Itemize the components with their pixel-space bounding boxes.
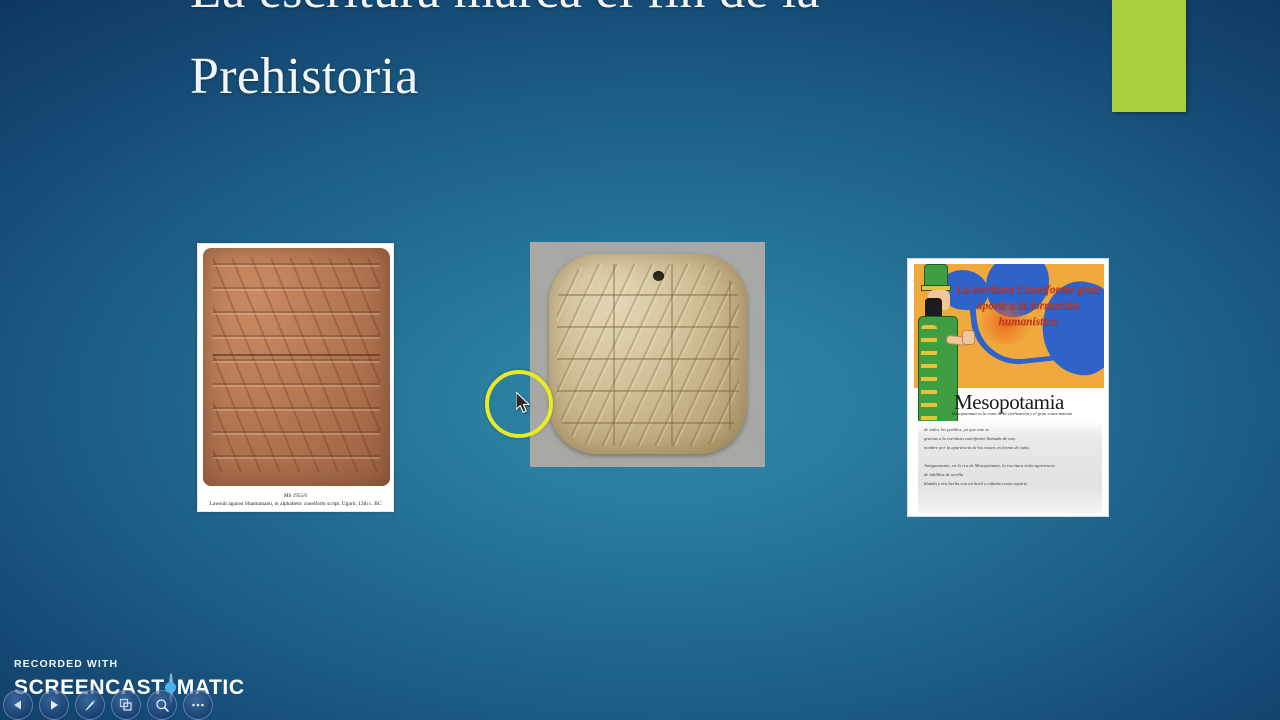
- rewind-button[interactable]: [3, 690, 33, 720]
- shapes-button[interactable]: [111, 690, 141, 720]
- poster-subtitle: Mesopotamia es la cuna de la civilizació…: [932, 411, 1092, 417]
- caption-id: MS 1955/6: [202, 493, 389, 500]
- play-button[interactable]: [39, 690, 69, 720]
- tablet-ugarit-caption: MS 1955/6 Lawsuit against Shamumanu, in …: [198, 493, 393, 508]
- poster-map-headline: La escritura Cuneiforme gran aporte a la…: [956, 282, 1100, 330]
- image-poster-mesopotamia[interactable]: La escritura Cuneiforme gran aporte a la…: [907, 258, 1109, 517]
- more-button[interactable]: [183, 690, 213, 720]
- pencil-icon: [83, 698, 97, 712]
- triangle-left-icon: [12, 699, 24, 711]
- presentation-slide: La escritura marca el fin de la Prehisto…: [0, 0, 1280, 720]
- watermark-recorded-with-label: RECORDED WITH: [14, 658, 239, 670]
- zoom-button[interactable]: [147, 690, 177, 720]
- ellipsis-icon: [191, 702, 205, 708]
- image-tablet-round[interactable]: [530, 242, 765, 467]
- magnifier-icon: [155, 698, 170, 713]
- poster-body-text: de todos los pueblos, ya que esto se gra…: [918, 421, 1102, 513]
- triangle-right-icon: [48, 699, 60, 711]
- pen-button[interactable]: [75, 690, 105, 720]
- tablet-round-photo: [549, 254, 747, 454]
- recorder-toolbar[interactable]: [0, 690, 216, 720]
- slide-title: La escritura marca el fin de la Prehisto…: [190, 0, 1070, 120]
- image-tablet-ugarit[interactable]: MS 1955/6 Lawsuit against Shamumanu, in …: [197, 243, 394, 512]
- figure-hand: [962, 330, 975, 345]
- shapes-icon: [119, 698, 133, 712]
- caption-text: Lawsuit against Shamumanu, in alphabetic…: [210, 501, 382, 507]
- tablet-ugarit-photo: [203, 248, 390, 486]
- tablet-hole: [653, 271, 664, 281]
- accent-block-green: [1112, 0, 1186, 112]
